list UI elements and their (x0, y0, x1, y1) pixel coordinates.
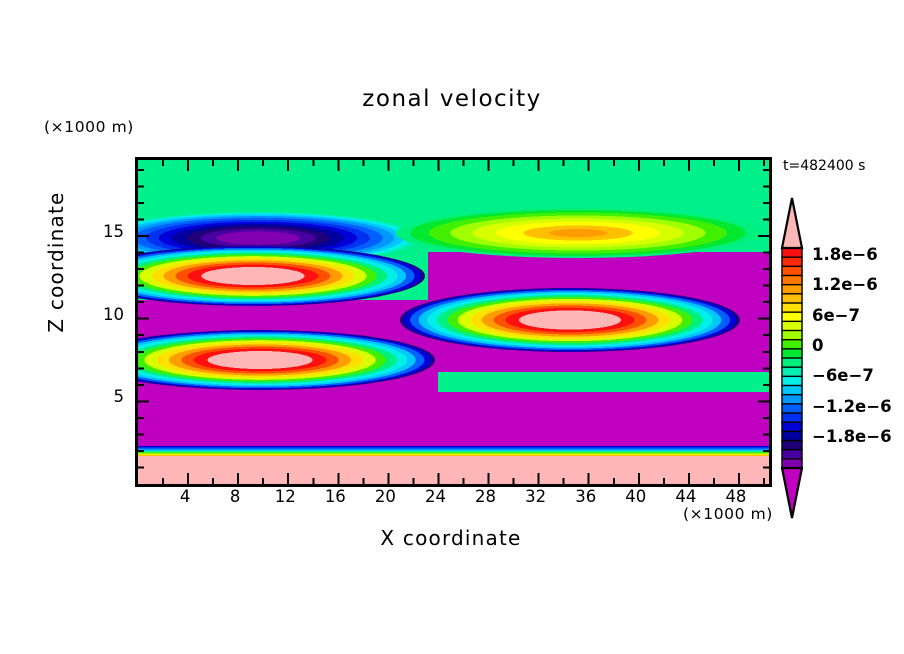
x-tick-label: 16 (313, 487, 357, 506)
x-tick-label: 32 (514, 487, 558, 506)
y-axis-title: Z coordinate (44, 182, 68, 342)
x-tick-label: 24 (413, 487, 457, 506)
timestamp-annotation: t=482400 s (783, 158, 865, 174)
colorbar-band (782, 257, 802, 267)
colorbar-band (782, 303, 802, 313)
colorbar-band (782, 358, 802, 368)
figure-canvas: zonal velocity (×1000 m) (×1000 m) Z coo… (0, 0, 904, 654)
colorbar-tick-label: −1.8e−6 (812, 427, 892, 446)
colorbar-tick-label: −6e−7 (812, 366, 874, 385)
colorbar-band (782, 395, 802, 405)
contour-plot-area (135, 157, 772, 487)
x-tick-label: 48 (714, 487, 758, 506)
colorbar-band (782, 349, 802, 359)
colorbar-band (782, 441, 802, 451)
x-tick-label: 44 (664, 487, 708, 506)
colorbar-band (782, 276, 802, 286)
colorbar-band (782, 376, 802, 386)
page-title: zonal velocity (0, 86, 904, 112)
colorbar-band (782, 422, 802, 432)
colorbar-band (782, 321, 802, 331)
colorbar-band (782, 367, 802, 377)
x-tick-label: 12 (263, 487, 307, 506)
x-tick-label: 28 (464, 487, 508, 506)
x-tick-label: 20 (363, 487, 407, 506)
colorbar (776, 196, 808, 520)
colorbar-band (782, 413, 802, 423)
colorbar-band (782, 450, 802, 460)
x-axis-units: (×1000 m) (683, 505, 773, 523)
colorbar-swatches (776, 196, 808, 520)
colorbar-band (782, 312, 802, 322)
colorbar-tick-label: 0 (812, 336, 823, 355)
colorbar-band (782, 404, 802, 414)
colorbar-band (782, 431, 802, 441)
colorbar-tick-label: 1.2e−6 (812, 275, 878, 294)
y-axis-units: (×1000 m) (44, 118, 134, 136)
y-tick-label: 10 (84, 305, 124, 324)
colorbar-band (782, 248, 802, 258)
colorbar-tick-label: 6e−7 (812, 306, 860, 325)
x-tick-label: 4 (163, 487, 207, 506)
colorbar-band (782, 386, 802, 396)
colorbar-tick-label: 1.8e−6 (812, 245, 878, 264)
colorbar-band (782, 294, 802, 304)
x-tick-label: 36 (564, 487, 608, 506)
y-tick-label: 5 (84, 387, 124, 406)
colorbar-band (782, 340, 802, 350)
contour-field (138, 160, 769, 484)
colorbar-band (782, 285, 802, 295)
y-tick-label: 15 (84, 222, 124, 241)
x-tick-label: 8 (213, 487, 257, 506)
colorbar-tick-label: −1.2e−6 (812, 397, 892, 416)
x-tick-label: 40 (614, 487, 658, 506)
colorbar-band (782, 331, 802, 341)
colorbar-band (782, 266, 802, 276)
x-axis-title: X coordinate (135, 526, 767, 550)
